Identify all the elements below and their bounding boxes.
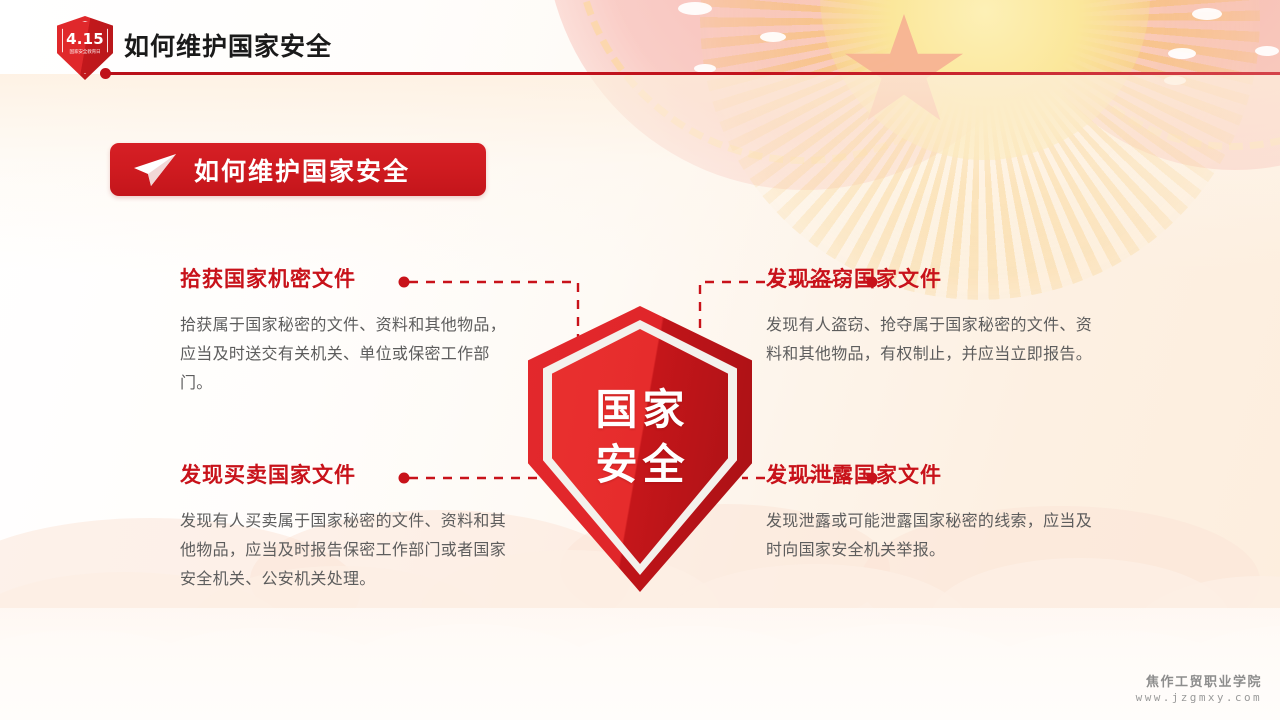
block-body: 发现有人买卖属于国家秘密的文件、资料和其他物品，应当及时报告保密工作部门或者国家… [180, 506, 512, 593]
content-block-top-right: 发现盗窃国家文件 发现有人盗窃、抢夺属于国家秘密的文件、资料和其他物品，有权制止… [766, 263, 1098, 368]
badge-date-label: 4.15 [57, 32, 113, 47]
section-banner-label: 如何维护国家安全 [194, 152, 410, 188]
content-block-bottom-left: 发现买卖国家文件 发现有人买卖属于国家秘密的文件、资料和其他物品，应当及时报告保… [180, 459, 512, 593]
watermark-name: 焦作工贸职业学院 [1136, 674, 1262, 692]
content-block-top-left: 拾获国家机密文件 拾获属于国家秘密的文件、资料和其他物品，应当及时送交有关机关、… [180, 263, 512, 397]
content-block-bottom-right: 发现泄露国家文件 发现泄露或可能泄露国家秘密的线索，应当及时向国家安全机关举报。 [766, 459, 1098, 564]
watermark: 焦作工贸职业学院 www.jzgmxy.com [1136, 674, 1262, 706]
block-body: 发现有人盗窃、抢夺属于国家秘密的文件、资料和其他物品，有权制止，并应当立即报告。 [766, 310, 1098, 368]
slide: 4.15 国家安全教育日 如何维护国家安全 如何维护国家安全 [0, 0, 1280, 720]
block-heading: 发现泄露国家文件 [766, 459, 1098, 489]
shield-label-line2: 安全 [528, 437, 752, 492]
badge-subtitle-label: 国家安全教育日 [59, 50, 111, 55]
cloud-base-band [0, 608, 1280, 720]
page-title: 如何维护国家安全 [124, 27, 332, 63]
block-heading: 发现买卖国家文件 [180, 459, 512, 489]
watermark-url: www.jzgmxy.com [1136, 691, 1262, 706]
block-body: 发现泄露或可能泄露国家秘密的线索，应当及时向国家安全机关举报。 [766, 506, 1098, 564]
header: 4.15 国家安全教育日 如何维护国家安全 [0, 0, 1280, 92]
paper-plane-icon [132, 153, 178, 187]
header-divider [110, 72, 1280, 75]
section-banner[interactable]: 如何维护国家安全 [110, 143, 486, 196]
shield-label: 国家 安全 [528, 382, 752, 493]
block-heading: 发现盗窃国家文件 [766, 263, 1098, 293]
shield-label-line1: 国家 [528, 382, 752, 437]
shield-icon: 国家 安全 [528, 306, 752, 592]
block-heading: 拾获国家机密文件 [180, 263, 512, 293]
block-body: 拾获属于国家秘密的文件、资料和其他物品，应当及时送交有关机关、单位或保密工作部门… [180, 310, 512, 397]
